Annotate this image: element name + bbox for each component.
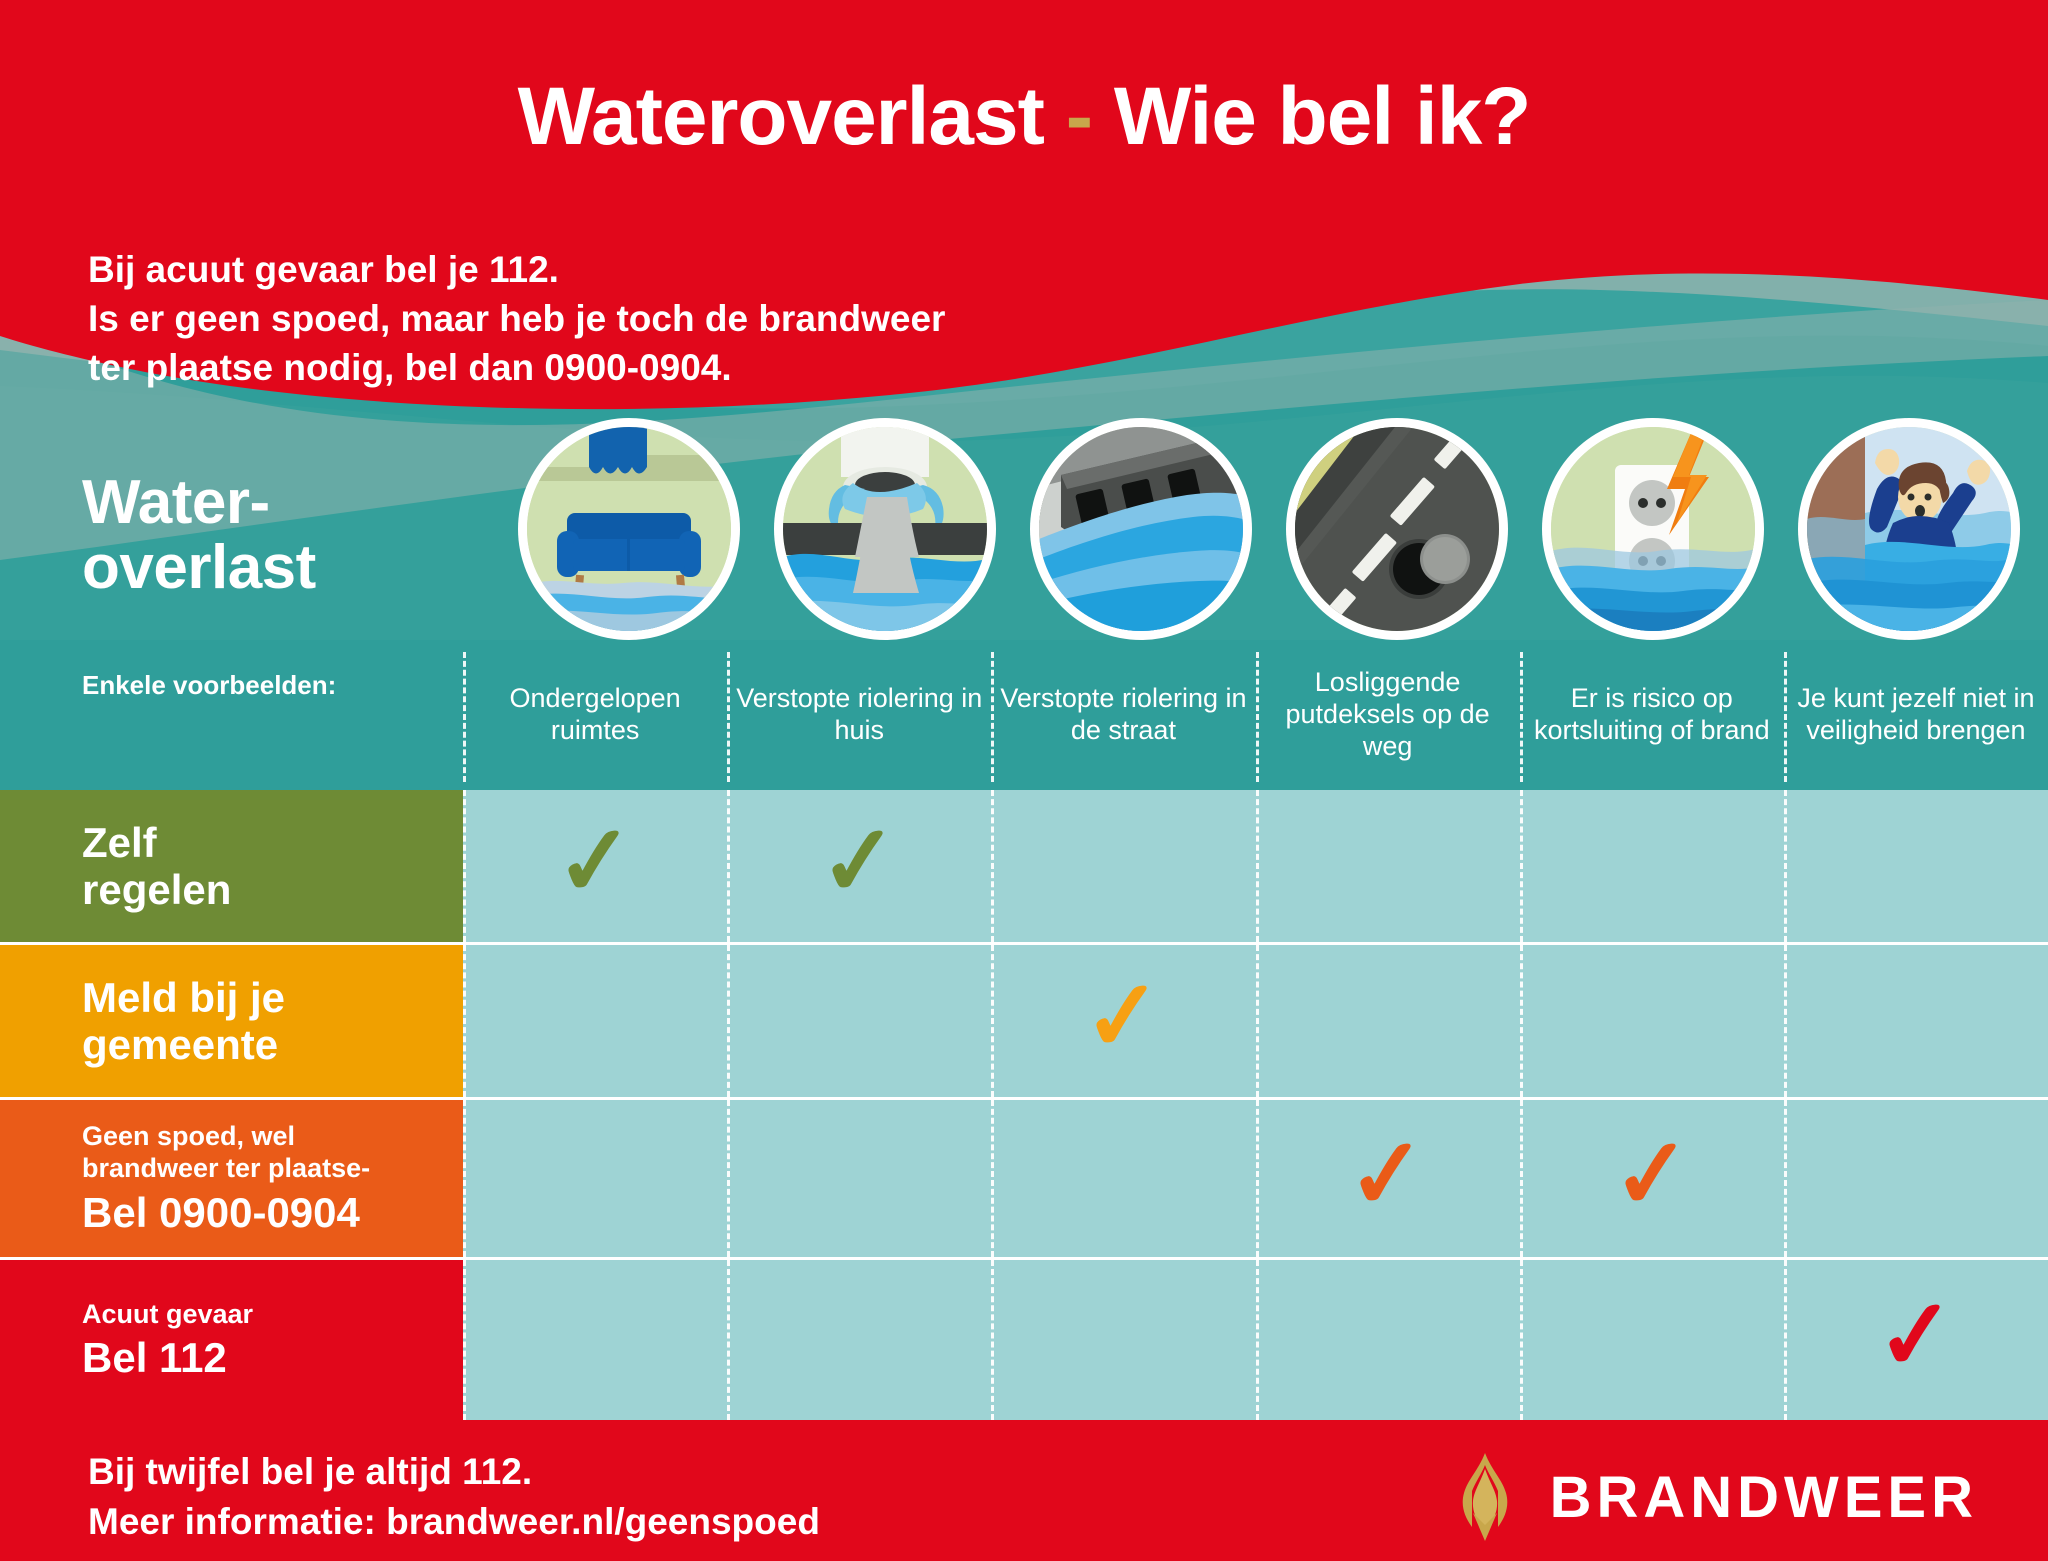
checkmark-icon: ✓: [1344, 1124, 1431, 1225]
cell-divider-icon: [1256, 1100, 1259, 1257]
category-heading-line-2: overlast: [82, 535, 316, 600]
checkmark-icon: ✓: [816, 811, 903, 912]
table-row-geen-spoed: Geen spoed, wel brandweer ter plaatse- B…: [0, 1100, 2048, 1260]
column-divider-icon: [1256, 652, 1259, 782]
row-label-line-1: Zelf: [82, 819, 463, 866]
row-cells: ✓: [463, 1260, 2048, 1420]
column-headers: Ondergelopen ruimtes Verstopte riolering…: [463, 640, 2048, 790]
cell-acuut-ondergelopen[interactable]: [463, 1260, 727, 1420]
cell-meld-ondergelopen[interactable]: [463, 945, 727, 1097]
row-label-zelf-regelen: Zelf regelen: [0, 790, 463, 942]
category-heading: Water- overlast: [82, 470, 316, 600]
column-header-label: Er is risico op kortsluiting of brand: [1526, 683, 1778, 747]
footer-bar: Bij twijfel bel je altijd 112. Meer info…: [0, 1421, 2048, 1561]
cell-acuut-riolering-huis[interactable]: [727, 1260, 991, 1420]
cell-acuut-veiligheid[interactable]: ✓: [1784, 1260, 2048, 1420]
cell-zelf-riolering-huis[interactable]: ✓: [727, 790, 991, 942]
cell-geen-ondergelopen[interactable]: [463, 1100, 727, 1257]
icon-circle-verstopte-riolering-straat: [1030, 418, 1252, 640]
column-divider-icon: [727, 652, 730, 782]
table-grid: Zelf regelen ✓ ✓ Meld bij je gemeente: [0, 790, 2048, 1420]
icon-circle-losliggende-putdeksels: [1286, 418, 1508, 640]
row-label-meld-bij-gemeente: Meld bij je gemeente: [0, 945, 463, 1097]
column-header-verstopte-riolering-huis: Verstopte riolering in huis: [727, 640, 991, 790]
checkmark-icon: ✓: [1080, 966, 1167, 1067]
cell-divider-icon: [727, 790, 730, 942]
cell-divider-icon: [991, 1100, 994, 1257]
cell-zelf-riolering-straat[interactable]: [991, 790, 1255, 942]
cell-meld-riolering-straat[interactable]: ✓: [991, 945, 1255, 1097]
cell-acuut-putdeksels[interactable]: [1256, 1260, 1520, 1420]
cell-divider-icon: [463, 945, 466, 1097]
cell-divider-icon: [1520, 1100, 1523, 1257]
cell-divider-icon: [463, 790, 466, 942]
column-header-label: Losliggende putdeksels op de weg: [1262, 667, 1514, 763]
row-label-line-2: regelen: [82, 866, 463, 913]
cell-divider-icon: [463, 1100, 466, 1257]
cell-divider-icon: [1520, 945, 1523, 1097]
cell-meld-riolering-huis[interactable]: [727, 945, 991, 1097]
overflowing-toilet-icon: [783, 427, 987, 631]
footer-text: Bij twijfel bel je altijd 112. Meer info…: [88, 1447, 820, 1547]
footer-line-2[interactable]: Meer informatie: brandweer.nl/geenspoed: [88, 1497, 820, 1547]
table-row-acuut-gevaar: Acuut gevaar Bel 112 ✓: [0, 1260, 2048, 1420]
footer-line-1: Bij twijfel bel je altijd 112.: [88, 1447, 820, 1497]
column-header-verstopte-riolering-straat: Verstopte riolering in de straat: [991, 640, 1255, 790]
cell-zelf-ondergelopen[interactable]: ✓: [463, 790, 727, 942]
title-part1: Wateroverlast: [518, 71, 1044, 162]
cell-geen-putdeksels[interactable]: ✓: [1256, 1100, 1520, 1257]
cell-divider-icon: [1256, 790, 1259, 942]
column-header-label: Verstopte riolering in de straat: [997, 683, 1249, 747]
comparison-table: Water- overlast Enkele voorbeelden: Onde…: [0, 640, 2048, 1420]
row-cells: ✓: [463, 945, 2048, 1097]
title-part2: Wie bel ik?: [1114, 71, 1531, 162]
street-drain-flood-icon: [1039, 427, 1243, 631]
table-row-meld-bij-gemeente: Meld bij je gemeente ✓: [0, 945, 2048, 1100]
column-divider-icon: [1784, 652, 1787, 782]
icon-circle-ondergelopen-ruimtes: [518, 418, 740, 640]
icon-circle-risico-kortsluiting: [1542, 418, 1764, 640]
table-row-zelf-regelen: Zelf regelen ✓ ✓: [0, 790, 2048, 945]
cell-divider-icon: [1520, 1260, 1523, 1420]
cell-acuut-riolering-straat[interactable]: [991, 1260, 1255, 1420]
column-divider-icon: [1520, 652, 1523, 782]
examples-label: Enkele voorbeelden:: [82, 670, 336, 701]
cell-geen-kortsluiting[interactable]: ✓: [1520, 1100, 1784, 1257]
cell-divider-icon: [727, 1100, 730, 1257]
row-label-line-2: gemeente: [82, 1021, 463, 1068]
icon-circle-verstopte-riolering-huis: [774, 418, 996, 640]
column-divider-icon: [463, 652, 466, 782]
cell-divider-icon: [1256, 1260, 1259, 1420]
cell-geen-riolering-huis[interactable]: [727, 1100, 991, 1257]
header-zone: Wateroverlast - Wie bel ik? Bij acuut ge…: [0, 0, 2048, 470]
subtitle-line-2: Is er geen spoed, maar heb je toch de br…: [88, 294, 945, 343]
cell-zelf-putdeksels[interactable]: [1256, 790, 1520, 942]
column-header-label: Verstopte riolering in huis: [733, 683, 985, 747]
header-subtitle: Bij acuut gevaar bel je 112. Is er geen …: [88, 245, 945, 393]
checkmark-icon: ✓: [552, 811, 639, 912]
category-label-block: Water- overlast Enkele voorbeelden:: [0, 470, 463, 790]
cell-divider-icon: [727, 1260, 730, 1420]
column-header-label: Ondergelopen ruimtes: [469, 683, 721, 747]
cell-geen-riolering-straat[interactable]: [991, 1100, 1255, 1257]
icon-circle-niet-in-veiligheid: [1798, 418, 2020, 640]
category-heading-line-1: Water-: [82, 470, 316, 535]
row-label-line-1: Geen spoed, wel: [82, 1121, 463, 1153]
row-label-line-1: Meld bij je: [82, 974, 463, 1021]
cell-meld-veiligheid[interactable]: [1784, 945, 2048, 1097]
poster-root: Wateroverlast - Wie bel ik? Bij acuut ge…: [0, 0, 2048, 1561]
flooded-power-socket-icon: [1551, 427, 1755, 631]
column-header-niet-in-veiligheid: Je kunt jezelf niet in veiligheid brenge…: [1784, 640, 2048, 790]
checkmark-icon: ✓: [1608, 1124, 1695, 1225]
cell-divider-icon: [991, 1260, 994, 1420]
cell-acuut-kortsluiting[interactable]: [1520, 1260, 1784, 1420]
cell-zelf-kortsluiting[interactable]: [1520, 790, 1784, 942]
brandweer-logo: BRANDWEER: [1442, 1451, 1978, 1543]
row-label-line-1: Acuut gevaar: [82, 1299, 463, 1331]
person-drowning-icon: [1807, 427, 2011, 631]
cell-divider-icon: [1784, 790, 1787, 942]
row-label-line-2: brandweer ter plaatse-: [82, 1153, 463, 1185]
column-header-label: Je kunt jezelf niet in veiligheid brenge…: [1790, 683, 2042, 747]
cell-geen-veiligheid[interactable]: [1784, 1100, 2048, 1257]
column-divider-icon: [991, 652, 994, 782]
row-label-phone: Bel 0900-0904: [82, 1189, 463, 1236]
loose-manhole-cover-icon: [1295, 427, 1499, 631]
row-label-phone: Bel 112: [82, 1334, 463, 1381]
brandweer-flame-icon: [1442, 1451, 1528, 1543]
cell-divider-icon: [463, 1260, 466, 1420]
cell-divider-icon: [1520, 790, 1523, 942]
cell-zelf-veiligheid[interactable]: [1784, 790, 2048, 942]
column-header-risico-kortsluiting: Er is risico op kortsluiting of brand: [1520, 640, 1784, 790]
cell-divider-icon: [727, 945, 730, 1097]
cell-divider-icon: [1784, 945, 1787, 1097]
brandweer-wordmark: BRANDWEER: [1550, 1464, 1978, 1531]
cell-divider-icon: [1256, 945, 1259, 1097]
row-label-geen-spoed: Geen spoed, wel brandweer ter plaatse- B…: [0, 1100, 463, 1257]
subtitle-line-1: Bij acuut gevaar bel je 112.: [88, 245, 945, 294]
cell-divider-icon: [1784, 1100, 1787, 1257]
column-header-ondergelopen-ruimtes: Ondergelopen ruimtes: [463, 640, 727, 790]
page-title: Wateroverlast - Wie bel ik?: [0, 70, 2048, 164]
flooded-room-sofa-icon: [527, 427, 731, 631]
title-dash: -: [1066, 71, 1092, 162]
checkmark-icon: ✓: [1872, 1285, 1959, 1386]
cell-meld-putdeksels[interactable]: [1256, 945, 1520, 1097]
cell-meld-kortsluiting[interactable]: [1520, 945, 1784, 1097]
subtitle-line-3: ter plaatse nodig, bel dan 0900-0904.: [88, 343, 945, 392]
row-label-acuut-gevaar: Acuut gevaar Bel 112: [0, 1260, 463, 1420]
cell-divider-icon: [991, 790, 994, 942]
cell-divider-icon: [1784, 1260, 1787, 1420]
row-cells: ✓ ✓: [463, 1100, 2048, 1257]
cell-divider-icon: [991, 945, 994, 1097]
column-header-losliggende-putdeksels: Losliggende putdeksels op de weg: [1256, 640, 1520, 790]
row-cells: ✓ ✓: [463, 790, 2048, 942]
